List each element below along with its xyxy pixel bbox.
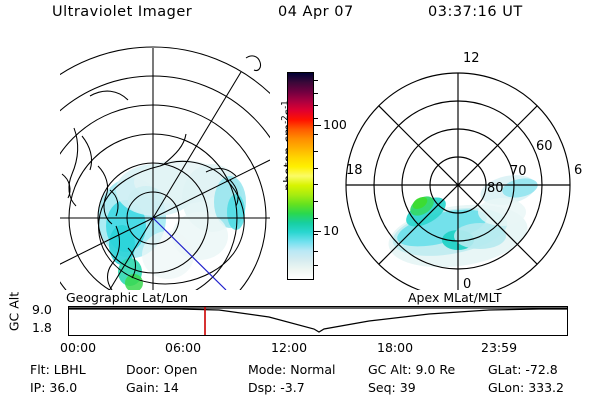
- time-tick-1: 06:00: [165, 340, 201, 355]
- colorbar-minor-tick: [314, 118, 318, 119]
- observation-date: 04 Apr 07: [278, 4, 354, 20]
- colorbar-minor-tick: [314, 251, 318, 252]
- mlt-label-top: 12: [463, 51, 480, 66]
- header-bar: Ultraviolet Imager 04 Apr 07 03:37:16 UT: [0, 4, 600, 30]
- mlat-label-60: 60: [536, 139, 553, 154]
- colorbar-minor-tick: [314, 234, 318, 235]
- colorbar-minor-tick: [314, 265, 318, 266]
- mlat-label-80: 80: [487, 181, 504, 196]
- aurora-emission-apex: [385, 170, 540, 275]
- uvi-viewer-window: Ultraviolet Imager 04 Apr 07 03:37:16 UT: [0, 0, 600, 400]
- observation-time: 03:37:16 UT: [428, 4, 523, 20]
- orbit-plot-box[interactable]: [68, 306, 568, 336]
- altitude-curve: [69, 309, 567, 332]
- geographic-map-panel[interactable]: [60, 40, 270, 290]
- colorbar-major-tick: [314, 231, 321, 232]
- geo-panel-caption: Geographic Lat/Lon: [66, 290, 188, 305]
- mlt-label-right: 6: [574, 163, 582, 178]
- instrument-title: Ultraviolet Imager: [52, 4, 192, 20]
- apex-dial-panel[interactable]: 12 18 6 0 60 70 80: [330, 40, 600, 290]
- geographic-map-svg: [60, 40, 270, 290]
- apex-dial-svg: 12 18 6 0 60 70 80: [330, 40, 600, 290]
- colorbar-minor-tick: [314, 184, 318, 185]
- mlt-label-bottom: 0: [463, 277, 471, 290]
- colorbar-minor-tick: [314, 93, 318, 94]
- colorbar-gradient-box: [287, 72, 314, 280]
- colorbar-minor-tick: [314, 201, 318, 202]
- orbit-y-tick-low: 1.8: [32, 320, 52, 335]
- colorbar-minor-tick: [314, 151, 318, 152]
- colorbar-minor-tick: [314, 80, 318, 81]
- status-dsp: Dsp: -3.7: [248, 380, 305, 395]
- colorbar-minor-tick: [314, 168, 318, 169]
- status-ip: IP: 36.0: [30, 380, 77, 395]
- time-tick-0: 00:00: [60, 340, 96, 355]
- orbit-time-axis: 00:00 06:00 12:00 18:00 23:59: [0, 340, 600, 358]
- time-tick-4: 23:59: [481, 340, 517, 355]
- orbit-y-tick-high: 9.0: [32, 302, 52, 317]
- time-tick-2: 12:00: [271, 340, 307, 355]
- orbit-altitude-strip[interactable]: Geographic Lat/Lon Apex MLat/MLT GC Alt …: [0, 290, 600, 360]
- apex-panel-caption: Apex MLat/MLT: [408, 290, 502, 305]
- colorbar-minor-tick: [314, 105, 318, 106]
- status-gc-alt: GC Alt: 9.0 Re: [368, 362, 455, 377]
- orbit-curve-svg: [69, 307, 567, 335]
- colorbar-minor-tick: [314, 218, 318, 219]
- status-glon: GLon: 333.2: [488, 380, 564, 395]
- status-glat: GLat: -72.8: [488, 362, 558, 377]
- status-footer: Flt: LBHL Door: Open Mode: Normal GC Alt…: [0, 362, 600, 400]
- mlt-label-left: 18: [346, 163, 363, 178]
- colorbar-major-tick: [314, 125, 321, 126]
- status-seq: Seq: 39: [368, 380, 416, 395]
- status-gain: Gain: 14: [126, 380, 179, 395]
- orbit-y-axis-label: GC Alt: [7, 284, 22, 340]
- colorbar-gradient: [288, 73, 313, 279]
- time-tick-3: 18:00: [377, 340, 413, 355]
- colorbar-minor-tick: [314, 134, 318, 135]
- status-flt: Flt: LBHL: [30, 362, 86, 377]
- mlat-label-70: 70: [510, 164, 527, 179]
- status-door: Door: Open: [126, 362, 197, 377]
- status-mode: Mode: Normal: [248, 362, 336, 377]
